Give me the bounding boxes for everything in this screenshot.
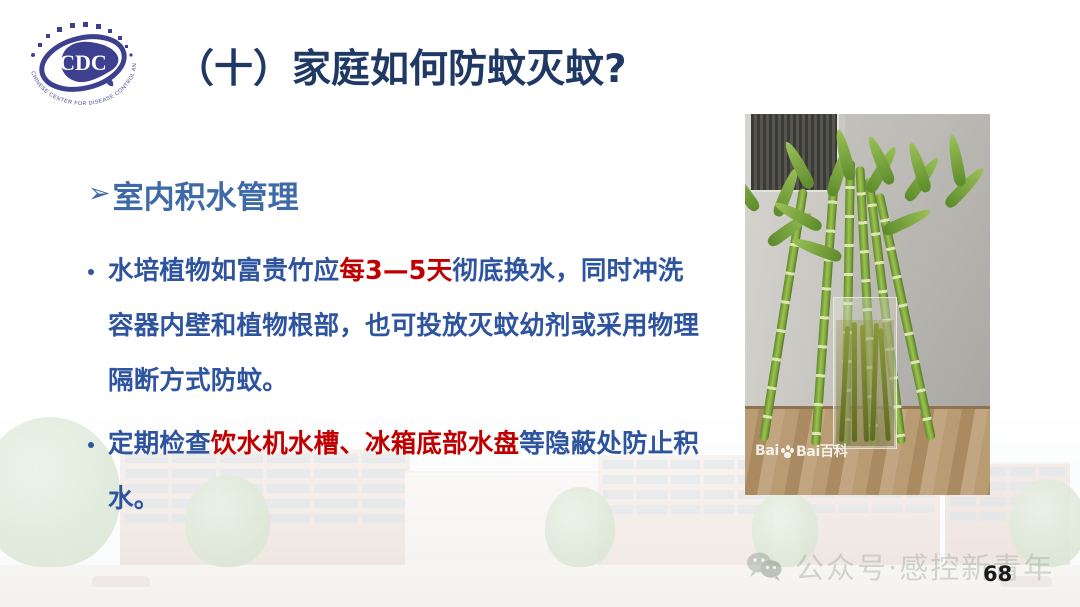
body-text: 水培植物如富贵竹应 [108,256,339,286]
section-heading-label: 室内积水管理 [113,172,299,217]
bullet-dot-icon [88,442,94,448]
bullet-text-2: 定期检查饮水机水槽、冰箱底部水盘等隐蔽处防止积水。 [108,429,699,514]
list-item: 水培植物如富贵竹应每3—5天彻底换水，同时冲洗容器内壁和植物根部，也可投放灭蚊幼… [84,244,704,409]
lucky-bamboo-photo: Bai Bai百科 [745,114,990,495]
slide-canvas: CDC CHINESE CENTER FOR DISEASE CONTROL A… [0,0,1080,607]
bullet-dot-icon [88,269,94,275]
arrow-bullet-icon: ➢ [88,178,111,209]
background-car [92,576,150,587]
highlighted-text: 饮水机水槽、冰箱底部水盘 [211,429,519,459]
plant-root [852,322,857,442]
baidu-baike-watermark: Bai Bai百科 [755,441,847,461]
wechat-icon [745,550,785,582]
bullet-list: 水培植物如富贵竹应每3—5天彻底换水，同时冲洗容器内壁和植物根部，也可投放灭蚊幼… [84,244,704,527]
background-road [0,589,1080,607]
bullet-text-1: 水培植物如富贵竹应每3—5天彻底换水，同时冲洗容器内壁和植物根部，也可投放灭蚊幼… [108,256,699,396]
baidu-wordmark-label: Bai [755,443,779,459]
plant-root [860,325,869,442]
plant-root [870,323,879,442]
plant-root [878,328,891,441]
list-item: 定期检查饮水机水槽、冰箱底部水盘等隐蔽处防止积水。 [84,417,704,527]
plant-root [839,326,850,442]
section-heading: ➢ 室内积水管理 [88,172,299,217]
vase-water [836,320,894,446]
svg-text:CDC: CDC [59,50,107,75]
body-text: 定期检查 [108,429,211,459]
page-number: 68 [983,562,1012,586]
baidu-paw-icon [780,444,795,458]
highlighted-text: 每3—5天 [339,256,452,286]
baidu-baike-label: Bai百科 [796,441,847,461]
page-title: （十）家庭如何防蚊灭蚊? [175,48,627,93]
wechat-watermark-label: 公众号·感控新青年 [795,545,1054,587]
glass-vase [833,297,897,449]
china-cdc-logo: CDC CHINESE CENTER FOR DISEASE CONTROL A… [12,7,154,111]
